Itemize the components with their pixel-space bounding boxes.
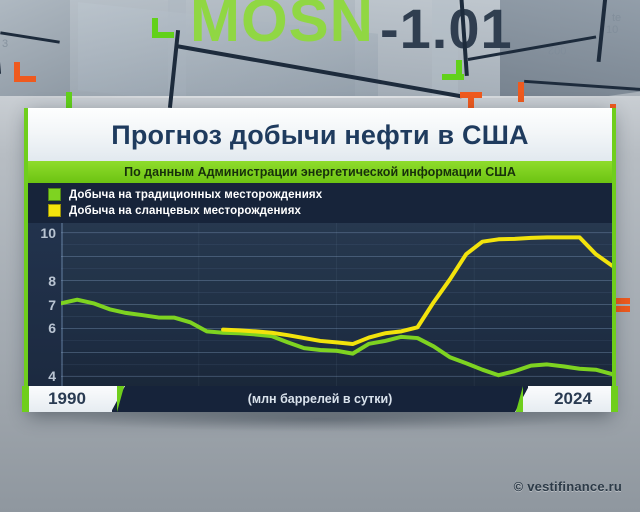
page-title: Прогноз добычи нефти в США <box>111 120 529 151</box>
legend-swatch-green <box>48 188 61 201</box>
set-value-text: -1.01 <box>380 0 513 61</box>
y-axis-tick-8: 8 <box>48 273 56 289</box>
y-axis-tick-10: 10 <box>40 225 56 241</box>
y-axis-tick-6: 6 <box>48 320 56 336</box>
floor-highlight <box>0 96 640 98</box>
legend-label-shale: Добыча на сланцевых месторождениях <box>69 205 301 217</box>
legend-label-conventional: Добыча на традиционных месторождениях <box>69 189 322 201</box>
y-axis-tick-4: 4 <box>48 368 56 384</box>
chart-plot-area: 467810 <box>28 223 612 386</box>
corner-marker-orange-2 <box>14 76 36 82</box>
chart-svg <box>61 223 612 386</box>
set-small-label-4: 10 <box>606 24 618 36</box>
set-small-label-1: 3 <box>2 38 8 50</box>
chart-legend: Добыча на традиционных месторождениях До… <box>28 183 612 223</box>
corner-marker-orange-4 <box>460 92 482 98</box>
set-logo-text: MOSN <box>190 0 374 55</box>
chart-card: Прогноз добычи нефти в США По данным Адм… <box>28 108 612 410</box>
x-axis-start-year-label: 1990 <box>48 389 86 409</box>
x-axis-end-year-label: 2024 <box>554 389 592 409</box>
watermark: © vestifinance.ru <box>514 479 622 494</box>
year-end-accent <box>611 386 618 412</box>
x-axis-end-year: 2024 <box>528 386 612 412</box>
chart-source-label: По данным Администрации энергетической и… <box>124 165 516 179</box>
corner-marker-green-2 <box>152 32 174 38</box>
legend-item-conventional: Добыча на традиционных месторождениях <box>48 187 612 202</box>
corner-marker-orange-5 <box>518 82 524 102</box>
screenshot-stage: MOSN -1.01 3 002 te 10 Прогноз добы <box>0 0 640 512</box>
chart-footer: 1990 (млн баррелей в сутки) 2024 <box>28 386 612 412</box>
y-axis-tick-7: 7 <box>48 297 56 313</box>
chart-subtitle-bar: По данным Администрации энергетической и… <box>28 161 612 183</box>
set-small-label-3: te <box>612 12 621 24</box>
chart-units-label: (млн баррелей в сутки) <box>112 386 528 412</box>
plot-canvas <box>61 223 612 386</box>
card-accent-right <box>612 108 616 410</box>
legend-swatch-yellow <box>48 204 61 217</box>
x-axis-start-year: 1990 <box>28 386 112 412</box>
chart-title-bar: Прогноз добычи нефти в США <box>28 108 612 161</box>
year-start-accent <box>22 386 29 412</box>
y-axis: 467810 <box>28 223 61 386</box>
legend-item-shale: Добыча на сланцевых месторождениях <box>48 203 612 218</box>
corner-marker-green-4 <box>442 74 464 80</box>
